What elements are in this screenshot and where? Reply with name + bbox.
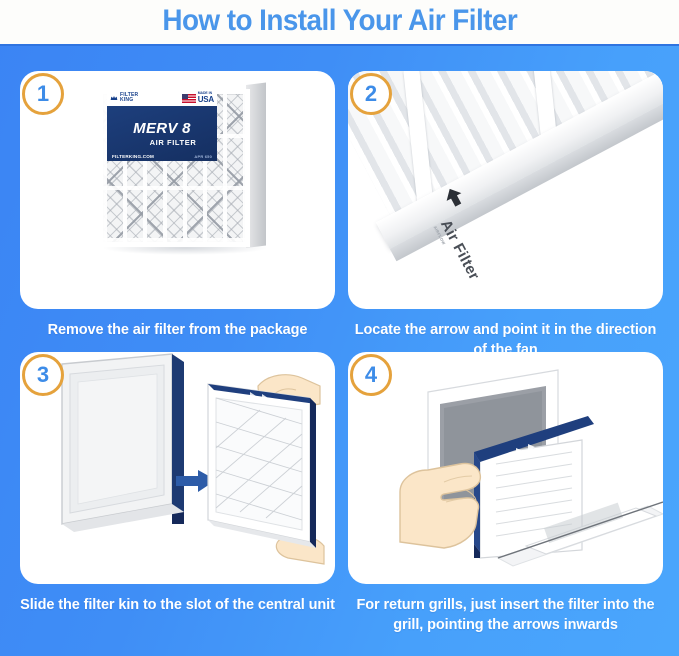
step-1-badge: 1	[22, 73, 64, 115]
hand-holding-filter	[400, 463, 480, 548]
slot-and-filter-drawing	[20, 352, 335, 584]
step-3-badge: 3	[22, 354, 64, 396]
step-3-caption: Slide the filter kin to the slot of the …	[20, 595, 335, 615]
step-4: 4	[348, 352, 663, 635]
brand-text: FILTER KING	[120, 93, 138, 104]
step-1-illustration: FILTER KING MADE IN USA	[20, 71, 335, 309]
product-label-header: FILTER KING MADE IN USA	[107, 90, 217, 106]
step-1: 1	[20, 71, 335, 340]
step-3: 3	[20, 352, 335, 615]
usa-flag-icon	[182, 94, 196, 103]
merv-rating: MERV 8	[133, 121, 191, 136]
central-unit-slot	[62, 354, 184, 532]
step-2-card: 2	[348, 71, 663, 309]
step-4-caption: For return grills, just insert the filte…	[348, 595, 663, 635]
air-filter-product: FILTER KING MADE IN USA	[98, 85, 266, 248]
product-label: FILTER KING MADE IN USA	[107, 90, 217, 161]
step-1-card: 1	[20, 71, 335, 309]
step-3-illustration	[20, 352, 335, 584]
made-in-usa-badge: MADE IN USA	[182, 92, 214, 103]
brand-lockup: FILTER KING	[110, 93, 138, 104]
step-2-badge: 2	[350, 73, 392, 115]
step-4-illustration	[348, 352, 663, 584]
filter-with-hands	[208, 375, 324, 564]
crown-icon	[110, 94, 118, 102]
brand-website: FILTERKING.COM	[112, 154, 154, 159]
steps-grid: 1	[0, 46, 679, 656]
step-2-illustration: Air Filter AIRFLOW	[348, 71, 663, 309]
step-1-caption: Remove the air filter from the package	[20, 320, 335, 340]
step-4-badge: 4	[350, 354, 392, 396]
step-2: 2	[348, 71, 663, 360]
step-3-card: 3	[20, 352, 335, 584]
brand-line-2: KING	[120, 97, 133, 103]
product-subtitle: AIR FILTER	[150, 138, 197, 147]
filter-corner	[348, 71, 663, 309]
header: How to Install Your Air Filter	[0, 0, 679, 44]
page-title: How to Install Your Air Filter	[162, 6, 517, 38]
step-4-card: 4	[348, 352, 663, 584]
product-label-body: MERV 8 AIR FILTER FILTERKING.COM APR 650	[107, 106, 217, 161]
apr-rating: APR 650	[194, 154, 212, 159]
infographic-page: How to Install Your Air Filter 1	[0, 0, 679, 656]
product-label-footer: FILTERKING.COM APR 650	[107, 154, 217, 159]
made-in-usa-text: MADE IN USA	[198, 92, 214, 103]
usa-label: USA	[198, 96, 214, 104]
filter-edge-photo: Air Filter AIRFLOW	[348, 71, 663, 309]
return-grill-drawing	[348, 352, 663, 584]
